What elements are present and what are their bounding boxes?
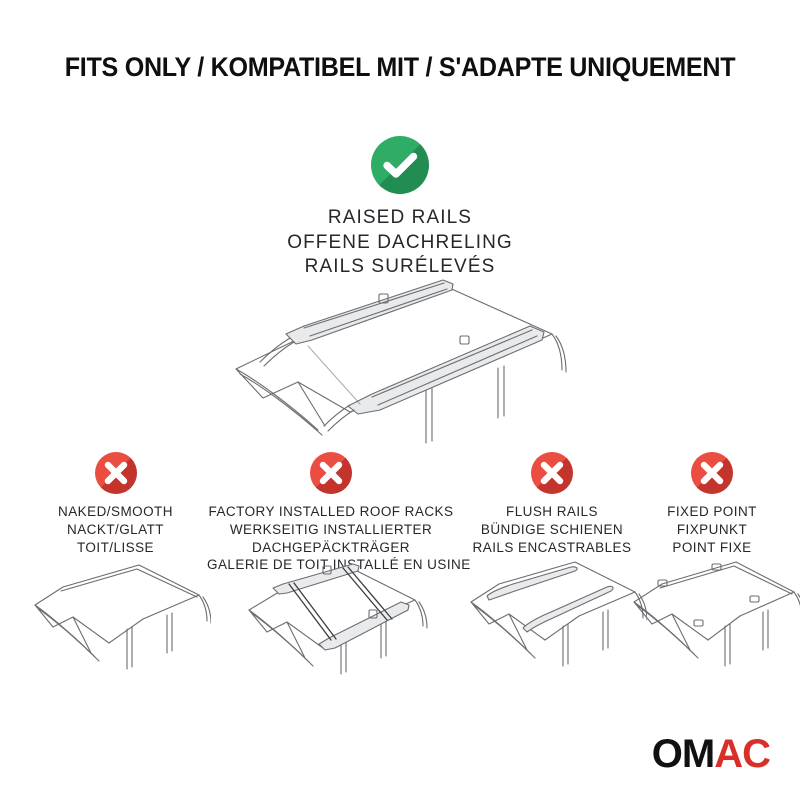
label-line-1: FIXED POINT (637, 503, 787, 521)
incompatible-labels: FLUSH RAILS BÜNDIGE SCHIENEN RAILS ENCAS… (452, 503, 652, 556)
label-line-3: TOIT/LISSE (18, 539, 213, 557)
label-line-2: FIXPUNKT (637, 521, 787, 539)
check-circle-icon (371, 136, 429, 194)
logo-text-red: AC (714, 732, 770, 776)
incompatible-item-naked: NAKED/SMOOTH NACKT/GLATT TOIT/LISSE (18, 452, 213, 556)
incompatible-item-flush-rails: FLUSH RAILS BÜNDIGE SCHIENEN RAILS ENCAS… (452, 452, 652, 556)
incompatible-labels: NAKED/SMOOTH NACKT/GLATT TOIT/LISSE (18, 503, 213, 556)
car-roof-fixed-point-illustration (622, 552, 800, 682)
car-roof-naked-illustration (21, 557, 211, 687)
compatible-labels: RAISED RAILS OFFENE DACHRELING RAILS SUR… (0, 206, 800, 280)
omac-logo: OMAC (652, 734, 770, 774)
car-roof-raised-rails-illustration (200, 278, 600, 453)
label-line-2: BÜNDIGE SCHIENEN (452, 521, 652, 539)
x-circle-icon (95, 452, 137, 494)
compatible-label-de: OFFENE DACHRELING (0, 231, 800, 256)
car-roof-factory-racks-illustration (231, 552, 431, 692)
car-roof-flush-rails-illustration (457, 552, 647, 682)
label-line-1: FLUSH RAILS (452, 503, 652, 521)
x-circle-icon (691, 452, 733, 494)
incompatible-labels: FIXED POINT FIXPUNKT POINT FIXE (637, 503, 787, 556)
compatible-label-fr: RAILS SURÉLEVÉS (0, 255, 800, 280)
logo-text-dark: OM (652, 732, 714, 776)
incompatible-item-factory-racks: FACTORY INSTALLED ROOF RACKS WERKSEITIG … (207, 452, 455, 574)
label-line-1: FACTORY INSTALLED ROOF RACKS (207, 503, 455, 521)
page-title: FITS ONLY / KOMPATIBEL MIT / S'ADAPTE UN… (28, 52, 772, 83)
incompatible-item-fixed-point: FIXED POINT FIXPUNKT POINT FIXE (637, 452, 787, 556)
compatible-label-en: RAISED RAILS (0, 206, 800, 231)
label-line-2: NACKT/GLATT (18, 521, 213, 539)
x-circle-icon (531, 452, 573, 494)
label-line-1: NAKED/SMOOTH (18, 503, 213, 521)
compatible-section: RAISED RAILS OFFENE DACHRELING RAILS SUR… (0, 136, 800, 280)
label-line-2: WERKSEITIG INSTALLIERTER (207, 521, 455, 539)
x-circle-icon (310, 452, 352, 494)
